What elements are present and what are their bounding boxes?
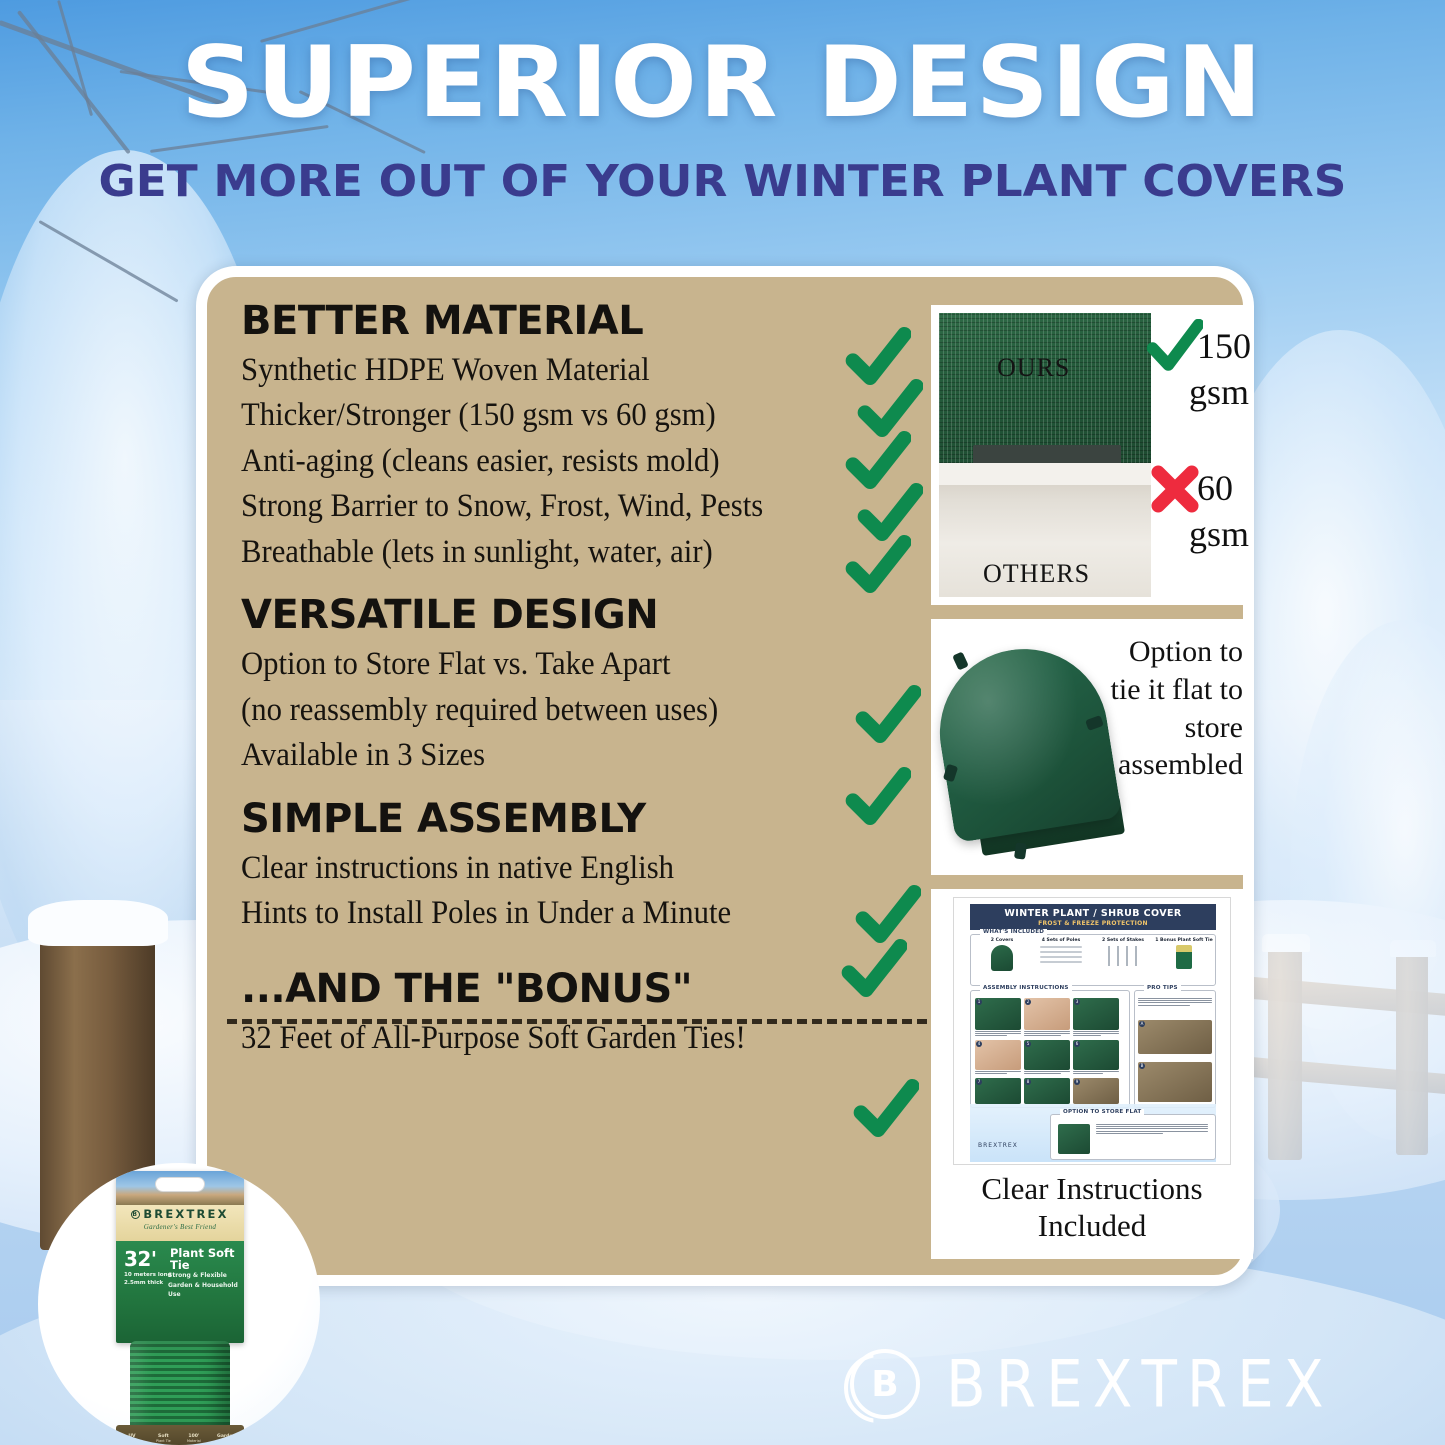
included-item-label: 4 Sets of Poles: [1032, 938, 1090, 943]
package-length: 32': [124, 1247, 156, 1271]
check-icon: [845, 533, 911, 599]
sheet-title: WINTER PLANT / SHRUB COVER: [970, 908, 1216, 919]
stakes-icon: [1106, 946, 1140, 968]
instructions-caption-line1: Clear Instructions: [931, 1171, 1253, 1208]
brand-circle-icon: B: [850, 1349, 920, 1419]
others-gsm-unit: gsm: [1189, 513, 1249, 555]
ours-gsm-unit: gsm: [1189, 371, 1249, 413]
package-base-strip: UV Resistant Soft Plant Tie 100' Materia…: [116, 1425, 244, 1445]
wooden-post-snow-cap: [28, 900, 168, 946]
base-feature-bottom: Household: [217, 1439, 236, 1443]
brand-b-mark: B: [131, 1210, 140, 1219]
check-icon: [855, 683, 921, 749]
included-item-label: 1 Bonus Plant Soft Tie: [1154, 938, 1214, 943]
base-feature: 100' Material: [187, 1434, 201, 1443]
feature-line: Option to Store Flat vs. Take Apart: [241, 642, 808, 688]
package-card: BBREXTREX Gardener's Best Friend 32' 10 …: [116, 1171, 244, 1343]
feature-section-simple-assembly: SIMPLE ASSEMBLY Clear instructions in na…: [241, 797, 851, 937]
feature-line: Synthetic HDPE Woven Material: [241, 348, 808, 394]
sheet-brand-logo: BREXTREX: [978, 1142, 1018, 1149]
assembly-step-photo: 5: [1024, 1040, 1070, 1070]
footer-brand-logo: B BREXTREX: [850, 1338, 1410, 1430]
product-inset-circle: BBREXTREX Gardener's Best Friend 32' 10 …: [38, 1163, 320, 1445]
feature-line2: Garden & Household Use: [168, 1281, 242, 1300]
check-icon: [841, 937, 907, 1003]
tie-strap: [952, 651, 969, 670]
package-brand-text: BREXTREX: [143, 1207, 228, 1221]
instructions-caption: Clear Instructions Included: [931, 1171, 1253, 1244]
feature-line: Breathable (lets in sunlight, water, air…: [241, 530, 808, 576]
feature-line: Anti-aging (cleans easier, resists mold): [241, 439, 808, 485]
check-icon: [853, 1077, 919, 1143]
material-comparison-panel: OURS OTHERS 150 gsm 60 gsm: [931, 305, 1253, 605]
sheet-subtitle: FROST & FREEZE PROTECTION: [970, 920, 1216, 927]
base-feature-bottom: Plant Tie: [156, 1439, 171, 1443]
included-item-label: 2 Sets of Stakes: [1094, 938, 1152, 943]
assembly-step-photo: 1: [975, 998, 1021, 1030]
feature-line: Hints to Install Poles in Under a Minute: [241, 891, 808, 937]
sheet-header: WINTER PLANT / SHRUB COVER FROST & FREEZ…: [970, 904, 1216, 930]
store-flat-sheet-caption: OPTION TO STORE FLAT: [1060, 1109, 1144, 1115]
feature-section-bonus: ...AND THE "BONUS" 32 Feet of All-Purpos…: [241, 967, 851, 1061]
tie-strap: [1014, 842, 1027, 859]
feature-section-versatile-design: VERSATILE DESIGN Option to Store Flat vs…: [241, 593, 851, 778]
included-item: 4 Sets of Poles: [1032, 938, 1090, 968]
others-gsm-value: 60: [1197, 467, 1233, 509]
package-tagline: Gardener's Best Friend: [116, 1223, 244, 1231]
included-item: 2 Sets of Stakes: [1094, 938, 1152, 968]
ours-label: OURS: [997, 353, 1070, 383]
page-subheadline: GET MORE OUT OF YOUR WINTER PLANT COVERS: [0, 160, 1445, 204]
package-features: Strong & Flexible Garden & Household Use: [168, 1271, 242, 1300]
base-feature-bottom: Resistant: [124, 1439, 140, 1443]
brand-wordmark: BREXTREX: [946, 1346, 1334, 1422]
store-flat-photo: [1058, 1124, 1090, 1154]
feature-line: Clear instructions in native English: [241, 846, 808, 892]
flat-cover-photo: [939, 631, 1115, 857]
checkmark-column: [827, 277, 947, 1275]
ours-woven-fabric-swatch: [939, 313, 1151, 463]
assembly-step-photo: 4: [975, 1040, 1021, 1070]
feature-line1: Strong & Flexible: [168, 1271, 242, 1281]
assembly-step-photo: 8: [1024, 1078, 1070, 1104]
feature-line: Strong Barrier to Snow, Frost, Wind, Pes…: [241, 484, 808, 530]
others-label: OTHERS: [983, 559, 1090, 589]
base-feature-bottom: Material: [187, 1439, 201, 1443]
feature-card: BETTER MATERIAL Synthetic HDPE Woven Mat…: [196, 266, 1254, 1286]
x-icon: [1147, 461, 1203, 517]
soft-tie-package: BBREXTREX Gardener's Best Friend 32' 10 …: [116, 1171, 244, 1439]
base-feature-top: Soft: [156, 1434, 171, 1439]
base-feature: Soft Plant Tie: [156, 1434, 171, 1443]
page-headline: SUPERIOR DESIGN: [0, 34, 1445, 132]
base-feature-top: 100': [187, 1434, 201, 1439]
feature-line: (no reassembly required between uses): [241, 688, 808, 734]
assembly-step-photo: 6: [1073, 1040, 1119, 1070]
brand-letter: B: [850, 1349, 920, 1419]
assembly-step-photo: 3: [1073, 998, 1119, 1030]
poles-icon: [1040, 946, 1082, 968]
section-title: VERSATILE DESIGN: [241, 593, 851, 638]
pro-tip-photo: A: [1138, 1020, 1212, 1054]
feature-list-column: BETTER MATERIAL Synthetic HDPE Woven Mat…: [241, 299, 851, 1079]
instructions-caption-line2: Included: [931, 1208, 1253, 1245]
soft-tie-icon: [1176, 945, 1192, 969]
whats-included-caption: WHAT'S INCLUDED: [980, 929, 1047, 935]
base-feature-top: Garden: [217, 1434, 236, 1439]
store-flat-panel: Option to tie it flat to store assembled: [931, 619, 1253, 875]
check-icon: [845, 765, 911, 831]
package-product-name: Plant Soft Tie: [170, 1247, 242, 1271]
fabric-comparison-photo: OURS OTHERS: [939, 313, 1151, 597]
base-feature: UV Resistant: [124, 1434, 140, 1443]
package-brand: BBREXTREX: [116, 1207, 244, 1221]
check-icon: [1147, 319, 1203, 375]
ours-gsm-value: 150: [1197, 325, 1251, 367]
included-item: 1 Bonus Plant Soft Tie: [1154, 938, 1214, 969]
feature-line: Thicker/Stronger (150 gsm vs 60 gsm): [241, 393, 808, 439]
cover-thumbnail-icon: [991, 945, 1013, 971]
section-title: ...AND THE "BONUS": [241, 967, 851, 1012]
instructions-panel: WINTER PLANT / SHRUB COVER FROST & FREEZ…: [931, 889, 1253, 1259]
pro-tips-caption: PRO TIPS: [1144, 985, 1181, 991]
assembly-step-photo: 9: [1073, 1078, 1119, 1104]
assembly-step-photo: 7: [975, 1078, 1021, 1104]
assembly-step-photo: 2: [1024, 998, 1070, 1030]
pro-tip-photo: B: [1138, 1062, 1212, 1102]
assembly-caption: ASSEMBLY INSTRUCTIONS: [980, 985, 1072, 991]
section-title: BETTER MATERIAL: [241, 299, 851, 344]
included-item-label: 2 Covers: [976, 938, 1028, 943]
instruction-sheet-thumbnail: WINTER PLANT / SHRUB COVER FROST & FREEZ…: [953, 897, 1231, 1165]
feature-section-better-material: BETTER MATERIAL Synthetic HDPE Woven Mat…: [241, 299, 851, 575]
feature-line: Available in 3 Sizes: [241, 733, 808, 779]
included-item: 2 Covers: [976, 938, 1028, 971]
green-tie-coil: [130, 1341, 230, 1433]
others-fabric-fold: [939, 463, 1151, 485]
gsm-marks-column: 150 gsm 60 gsm: [1155, 313, 1247, 597]
store-flat-caption: Option to tie it flat to store assembled: [1107, 633, 1243, 784]
section-title: SIMPLE ASSEMBLY: [241, 797, 851, 842]
base-feature: Garden Household: [217, 1434, 236, 1443]
package-hang-hole: [155, 1177, 205, 1192]
